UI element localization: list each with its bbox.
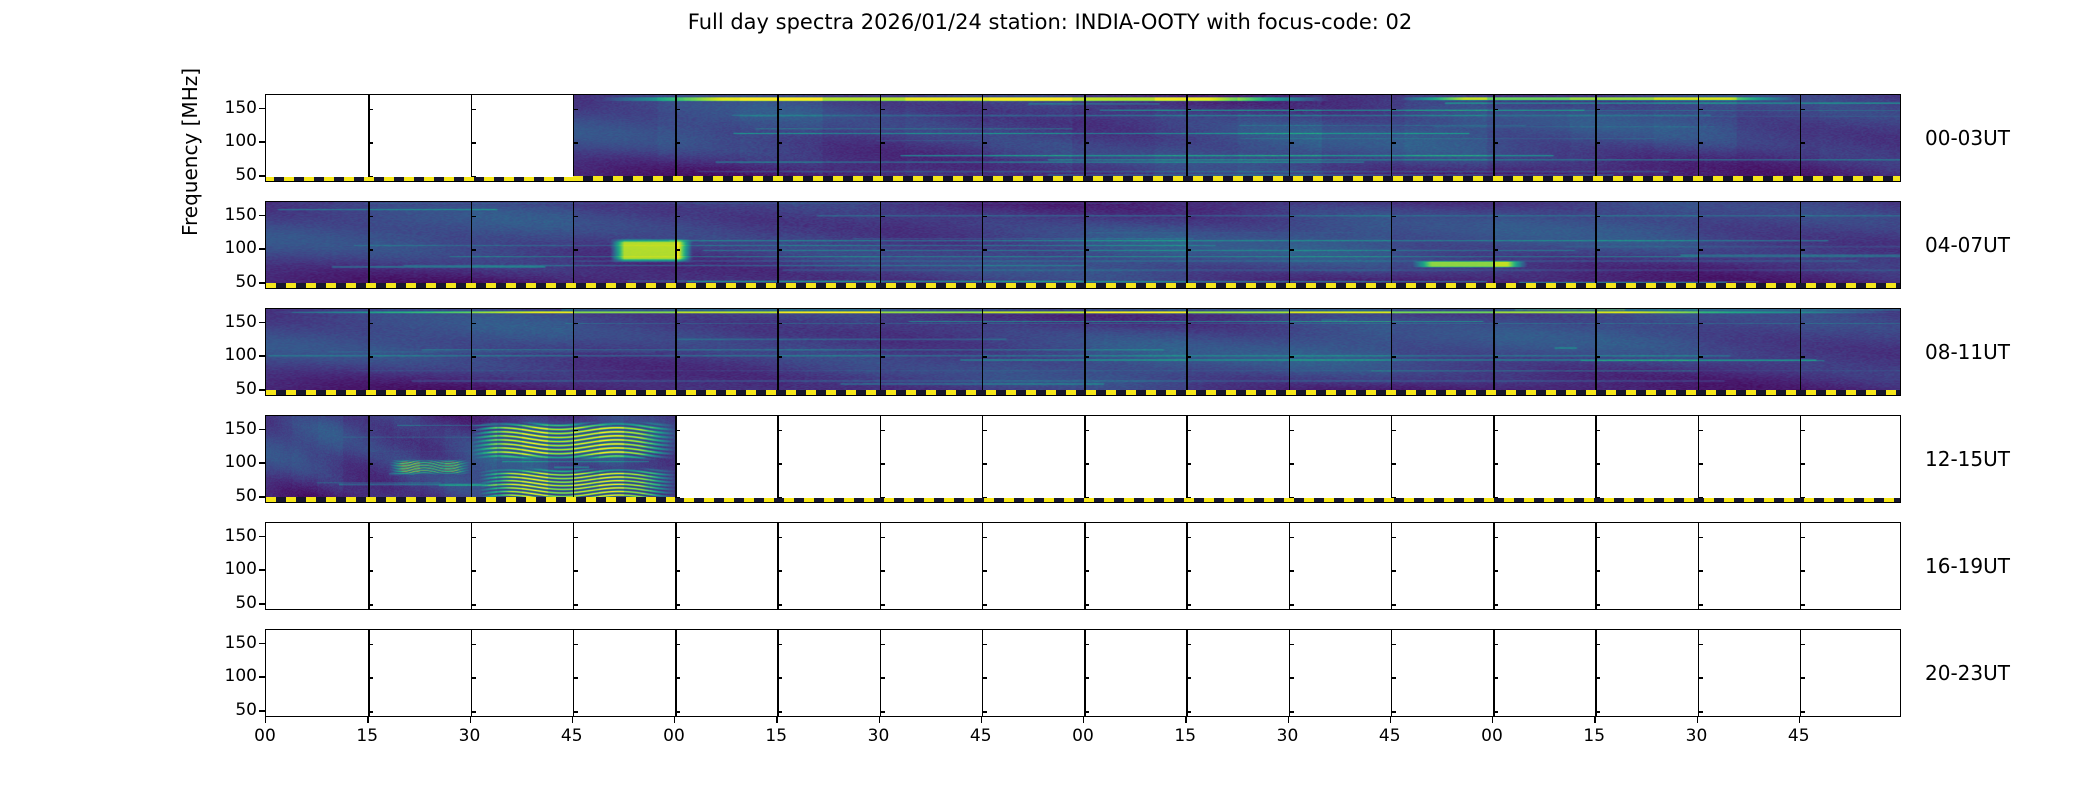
subpanel-y-tick — [1084, 249, 1089, 250]
x-tick-minor — [1800, 497, 1801, 502]
x-tick-minor — [1595, 711, 1596, 716]
subpanel-y-tick — [777, 430, 782, 431]
subpanel-y-tick — [1595, 216, 1600, 217]
subpanel-y-tick — [573, 677, 578, 678]
x-tick-minor — [1084, 604, 1085, 609]
subpanel-y-tick — [1595, 323, 1600, 324]
y-tick-label: 50 — [197, 593, 257, 613]
subpanel-y-tick — [368, 216, 373, 217]
subpanel-y-tick — [1595, 249, 1600, 250]
subpanel-y-tick — [1595, 537, 1600, 538]
subpanel-y-tick — [1493, 537, 1498, 538]
y-tick-label: 100 — [197, 345, 257, 365]
subpanel-y-tick — [1800, 570, 1805, 571]
subpanel-y-tick — [471, 109, 476, 110]
subpanel-y-tick — [880, 142, 885, 143]
subpanel-y-tick — [1289, 216, 1294, 217]
subpanel-y-tick — [982, 463, 987, 464]
subpanel-y-tick — [1800, 677, 1805, 678]
x-tick-label: 30 — [854, 726, 904, 746]
subpanel-y-tick — [880, 570, 885, 571]
subpanel-y-tick — [573, 356, 578, 357]
subpanel-y-tick — [1391, 323, 1396, 324]
x-tick-minor — [368, 604, 369, 609]
data-coverage-marker — [266, 390, 1901, 395]
y-tick-label: 150 — [197, 98, 257, 118]
subpanel-y-tick — [1698, 249, 1703, 250]
x-tick — [981, 717, 982, 723]
subpanel-y-tick — [1800, 497, 1805, 498]
y-tick-label: 50 — [197, 486, 257, 506]
subpanel-y-tick — [982, 570, 987, 571]
y-tick-label: 100 — [197, 559, 257, 579]
subpanel-y-tick — [471, 430, 476, 431]
x-tick-minor — [982, 497, 983, 502]
y-tick-label: 150 — [197, 312, 257, 332]
y-tick-150 — [259, 215, 265, 216]
subpanel-y-tick — [1084, 463, 1089, 464]
subpanel-y-tick — [1084, 216, 1089, 217]
subpanel-y-tick — [777, 109, 782, 110]
y-tick-label-group: 5010015050100150501001505010015050100150… — [195, 94, 257, 718]
x-tick — [265, 717, 266, 723]
y-tick-150 — [259, 536, 265, 537]
subpanel-y-tick — [471, 356, 476, 357]
subpanel-y-tick — [1698, 323, 1703, 324]
y-tick-150 — [259, 108, 265, 109]
x-tick-minor — [471, 604, 472, 609]
subpanel-y-tick — [1391, 644, 1396, 645]
subpanel-y-tick — [1800, 323, 1805, 324]
x-tick-minor — [675, 497, 676, 502]
y-tick-150 — [259, 429, 265, 430]
x-tick — [1697, 717, 1698, 723]
x-tick-minor — [1698, 711, 1699, 716]
y-tick-150 — [259, 322, 265, 323]
subpanel-y-tick — [1084, 644, 1089, 645]
subpanel-y-tick — [1186, 463, 1191, 464]
subpanel-y-tick — [982, 249, 987, 250]
subpanel-y-tick — [1595, 677, 1600, 678]
subpanel-y-tick — [368, 109, 373, 110]
subpanel-y-tick — [1595, 109, 1600, 110]
subpanel-y-tick — [1493, 463, 1498, 464]
subpanel-y-tick — [1595, 356, 1600, 357]
x-tick-minor — [880, 604, 881, 609]
x-tick-label: 15 — [1569, 726, 1619, 746]
subpanel-y-tick — [1698, 463, 1703, 464]
y-tick-100 — [259, 569, 265, 570]
subpanel-y-tick — [777, 463, 782, 464]
subpanel-y-tick — [1289, 644, 1294, 645]
subpanel-y-tick — [1595, 497, 1600, 498]
subpanel-y-tick — [675, 109, 680, 110]
subpanel-y-tick — [1800, 356, 1805, 357]
subpanel-y-tick — [1493, 323, 1498, 324]
x-tick-minor — [1493, 497, 1494, 502]
subpanel-y-tick — [1493, 249, 1498, 250]
x-tick-minor — [1084, 711, 1085, 716]
subpanel-y-tick — [1289, 497, 1294, 498]
subpanel-y-tick — [1391, 497, 1396, 498]
x-tick — [879, 717, 880, 723]
x-tick-label: 30 — [445, 726, 495, 746]
row-axes-frame — [265, 201, 1901, 289]
y-tick-label: 50 — [197, 272, 257, 292]
subpanel-y-tick — [777, 537, 782, 538]
subpanel-y-tick — [777, 142, 782, 143]
subpanel-y-tick — [1698, 109, 1703, 110]
subpanel-y-tick — [777, 249, 782, 250]
subpanel-y-tick — [1289, 323, 1294, 324]
y-tick-label: 100 — [197, 452, 257, 472]
subpanel-y-tick — [471, 537, 476, 538]
subpanel-y-tick — [1186, 430, 1191, 431]
y-tick-label: 50 — [197, 165, 257, 185]
subpanel-y-tick — [880, 109, 885, 110]
subpanel-y-tick — [880, 677, 885, 678]
subpanel-y-tick — [573, 644, 578, 645]
x-tick-minor — [1595, 604, 1596, 609]
x-tick — [1799, 717, 1800, 723]
subpanel-y-tick — [1698, 430, 1703, 431]
x-tick-minor — [777, 497, 778, 502]
y-tick-100 — [259, 248, 265, 249]
subpanel-y-tick — [1493, 644, 1498, 645]
subpanel-y-tick — [471, 644, 476, 645]
subpanel-y-tick — [368, 537, 373, 538]
subpanel-y-tick — [880, 537, 885, 538]
subpanel-y-tick — [1084, 356, 1089, 357]
y-tick-150 — [259, 643, 265, 644]
subpanel-y-tick — [471, 463, 476, 464]
subpanel-y-tick — [1186, 249, 1191, 250]
subpanel-y-tick — [573, 216, 578, 217]
x-tick-minor — [1186, 711, 1187, 716]
x-tick-minor — [1186, 497, 1187, 502]
subpanel-y-tick — [1186, 537, 1191, 538]
y-tick-label: 150 — [197, 633, 257, 653]
subpanel-y-tick — [1595, 570, 1600, 571]
y-tick-50 — [259, 496, 265, 497]
x-tick-minor — [573, 604, 574, 609]
subpanel-y-tick — [880, 644, 885, 645]
x-tick — [572, 717, 573, 723]
x-tick-minor — [471, 711, 472, 716]
x-tick-minor — [1595, 497, 1596, 502]
subpanel-y-tick — [1289, 537, 1294, 538]
x-tick — [1288, 717, 1289, 723]
subpanel-y-tick — [675, 463, 680, 464]
spectrogram-row[interactable] — [265, 94, 1901, 182]
subpanel-y-tick — [1800, 430, 1805, 431]
subpanel-y-tick — [880, 463, 885, 464]
y-tick-100 — [259, 141, 265, 142]
subpanel-y-tick — [880, 497, 885, 498]
subpanel-y-tick — [368, 249, 373, 250]
subpanel-y-tick — [982, 677, 987, 678]
subpanel-y-tick — [982, 109, 987, 110]
subpanel-y-tick — [1289, 142, 1294, 143]
subpanel-y-tick — [982, 356, 987, 357]
x-tick-minor — [368, 711, 369, 716]
y-tick-100 — [259, 355, 265, 356]
subpanel-y-tick — [1391, 216, 1396, 217]
subpanel-y-tick — [1186, 497, 1191, 498]
row-label-12-15ut: 12-15UT — [1925, 447, 2010, 471]
subpanel-y-tick — [1186, 570, 1191, 571]
subpanel-y-tick — [880, 323, 885, 324]
subpanel-y-tick — [573, 249, 578, 250]
subpanel-y-tick — [982, 216, 987, 217]
subpanel-y-tick — [1391, 570, 1396, 571]
row-axes-frame — [265, 94, 1901, 182]
subpanel-y-tick — [471, 249, 476, 250]
spectrogram-row[interactable] — [265, 201, 1901, 289]
subpanel-y-tick — [777, 644, 782, 645]
subpanel-y-tick — [1493, 677, 1498, 678]
subpanel-y-tick — [1493, 356, 1498, 357]
subpanel-y-tick — [1595, 142, 1600, 143]
y-tick-label: 100 — [197, 131, 257, 151]
subpanel-y-tick — [1084, 142, 1089, 143]
subpanel-y-tick — [1698, 677, 1703, 678]
subpanel-y-tick — [1800, 216, 1805, 217]
subpanel-y-tick — [982, 142, 987, 143]
subpanel-y-tick — [880, 216, 885, 217]
y-tick-label: 50 — [197, 700, 257, 720]
x-tick-label-group: 00153045001530450015304500153045 — [265, 726, 1901, 756]
x-tick-label: 45 — [1365, 726, 1415, 746]
x-tick-minor — [1084, 497, 1085, 502]
spectrogram-row[interactable] — [265, 308, 1901, 396]
y-tick-50 — [259, 175, 265, 176]
x-tick-minor — [880, 711, 881, 716]
subpanel-y-tick — [1289, 249, 1294, 250]
data-coverage-marker — [573, 176, 1901, 181]
subpanel-y-tick — [368, 430, 373, 431]
subpanel-y-tick — [1391, 537, 1396, 538]
subpanel-y-tick — [777, 356, 782, 357]
spectrogram-row[interactable] — [265, 522, 1901, 610]
subpanel-y-tick — [1391, 677, 1396, 678]
subpanel-y-tick — [368, 142, 373, 143]
subpanel-y-tick — [1186, 142, 1191, 143]
subpanel-y-tick — [1084, 430, 1089, 431]
subpanel-y-tick — [982, 430, 987, 431]
subpanel-y-tick — [368, 677, 373, 678]
subpanel-y-tick — [675, 677, 680, 678]
subpanel-y-tick — [675, 644, 680, 645]
y-tick-label: 150 — [197, 419, 257, 439]
subpanel-y-tick — [471, 216, 476, 217]
x-tick-label: 00 — [1467, 726, 1517, 746]
x-tick-label: 45 — [956, 726, 1006, 746]
x-tick-minor — [1698, 497, 1699, 502]
row-label-08-11ut: 08-11UT — [1925, 340, 2010, 364]
x-tick-minor — [1800, 711, 1801, 716]
row-label-04-07ut: 04-07UT — [1925, 233, 2010, 257]
subpanel-y-tick — [573, 109, 578, 110]
subpanel-y-tick — [573, 463, 578, 464]
subpanel-y-tick — [471, 323, 476, 324]
subpanel-y-tick — [982, 537, 987, 538]
y-tick-50 — [259, 603, 265, 604]
subpanel-y-tick — [1084, 570, 1089, 571]
y-tick-label: 50 — [197, 379, 257, 399]
spectrogram-grid — [265, 94, 1901, 718]
row-label-00-03ut: 00-03UT — [1925, 126, 2010, 150]
subpanel-y-tick — [1391, 249, 1396, 250]
subpanel-y-tick — [368, 463, 373, 464]
x-tick-minor — [1493, 711, 1494, 716]
figure-title: Full day spectra 2026/01/24 station: IND… — [0, 10, 2100, 34]
x-tick-minor — [1289, 711, 1290, 716]
spectrogram-row[interactable] — [265, 415, 1901, 503]
subpanel-y-tick — [1084, 497, 1089, 498]
x-tick-minor — [675, 711, 676, 716]
x-tick-minor — [1289, 604, 1290, 609]
x-tick-label: 15 — [342, 726, 392, 746]
y-tick-50 — [259, 282, 265, 283]
subpanel-y-tick — [368, 176, 373, 177]
x-tick-minor — [1391, 711, 1392, 716]
subpanel-y-tick — [1800, 463, 1805, 464]
subpanel-y-tick — [368, 323, 373, 324]
x-tick-minor — [471, 176, 472, 181]
x-tick-minor — [1289, 497, 1290, 502]
subpanel-y-tick — [1289, 356, 1294, 357]
subpanel-y-tick — [1391, 356, 1396, 357]
x-tick — [367, 717, 368, 723]
x-tick-minor — [1391, 497, 1392, 502]
x-tick — [470, 717, 471, 723]
subpanel-y-tick — [1800, 644, 1805, 645]
spectrogram-row[interactable] — [265, 629, 1901, 717]
subpanel-y-tick — [777, 570, 782, 571]
subpanel-y-tick — [675, 497, 680, 498]
subpanel-y-tick — [777, 216, 782, 217]
subpanel-y-tick — [1084, 537, 1089, 538]
row-label-16-19ut: 16-19UT — [1925, 554, 2010, 578]
subpanel-y-tick — [1084, 323, 1089, 324]
x-tick-label: 45 — [547, 726, 597, 746]
subpanel-y-tick — [1493, 216, 1498, 217]
subpanel-y-tick — [1186, 356, 1191, 357]
subpanel-y-tick — [675, 216, 680, 217]
row-axes-frame — [265, 629, 1901, 717]
subpanel-y-tick — [1289, 677, 1294, 678]
subpanel-y-tick — [1084, 677, 1089, 678]
subpanel-y-tick — [1186, 677, 1191, 678]
subpanel-y-tick — [471, 142, 476, 143]
subpanel-y-tick — [1493, 109, 1498, 110]
x-tick-label: 45 — [1774, 726, 1824, 746]
figure-canvas: Full day spectra 2026/01/24 station: IND… — [0, 0, 2100, 800]
subpanel-y-tick — [1698, 356, 1703, 357]
subpanel-y-tick — [1698, 570, 1703, 571]
subpanel-y-tick — [1084, 109, 1089, 110]
subpanel-y-tick — [1391, 463, 1396, 464]
subpanel-y-tick — [368, 570, 373, 571]
x-tick — [1390, 717, 1391, 723]
x-tick-minor — [777, 711, 778, 716]
x-tick — [776, 717, 777, 723]
x-tick-label: 15 — [751, 726, 801, 746]
subpanel-y-tick — [777, 497, 782, 498]
x-tick — [1492, 717, 1493, 723]
subpanel-y-tick — [471, 570, 476, 571]
subpanel-y-tick — [1391, 109, 1396, 110]
x-tick-minor — [982, 711, 983, 716]
subpanel-y-tick — [675, 430, 680, 431]
x-tick — [1594, 717, 1595, 723]
y-tick-100 — [259, 462, 265, 463]
x-tick-label: 00 — [649, 726, 699, 746]
x-tick-minor — [880, 497, 881, 502]
subpanel-y-tick — [1289, 109, 1294, 110]
subpanel-y-tick — [1186, 323, 1191, 324]
x-tick — [1185, 717, 1186, 723]
subpanel-y-tick — [1698, 537, 1703, 538]
subpanel-y-tick — [573, 430, 578, 431]
subpanel-y-tick — [471, 677, 476, 678]
subpanel-y-tick — [1186, 109, 1191, 110]
subpanel-y-tick — [1698, 497, 1703, 498]
row-axes-frame — [265, 522, 1901, 610]
row-axes-frame — [265, 308, 1901, 396]
subpanel-y-tick — [880, 249, 885, 250]
x-tick-label: 30 — [1672, 726, 1722, 746]
x-tick — [1083, 717, 1084, 723]
subpanel-y-tick — [982, 644, 987, 645]
y-tick-label: 100 — [197, 238, 257, 258]
subpanel-y-tick — [675, 323, 680, 324]
data-coverage-marker — [266, 283, 1901, 288]
subpanel-y-tick — [573, 570, 578, 571]
row-label-20-23ut: 20-23UT — [1925, 661, 2010, 685]
x-tick-minor — [368, 176, 369, 181]
x-tick-label: 30 — [1263, 726, 1313, 746]
subpanel-y-tick — [982, 497, 987, 498]
subpanel-y-tick — [573, 537, 578, 538]
subpanel-y-tick — [1391, 142, 1396, 143]
x-tick-minor — [573, 711, 574, 716]
x-tick-minor — [1186, 604, 1187, 609]
y-tick-label: 150 — [197, 205, 257, 225]
x-tick-minor — [1391, 604, 1392, 609]
subpanel-y-tick — [675, 249, 680, 250]
subpanel-y-tick — [675, 142, 680, 143]
x-tick-minor — [675, 604, 676, 609]
subpanel-y-tick — [1698, 216, 1703, 217]
x-tick-minor — [1493, 604, 1494, 609]
subpanel-y-tick — [880, 356, 885, 357]
subpanel-y-tick — [1493, 142, 1498, 143]
subpanel-y-tick — [1595, 430, 1600, 431]
subpanel-y-tick — [1698, 644, 1703, 645]
x-tick-minor — [1698, 604, 1699, 609]
subpanel-y-tick — [1289, 463, 1294, 464]
subpanel-y-tick — [1493, 570, 1498, 571]
x-tick-minor — [1800, 604, 1801, 609]
subpanel-y-tick — [675, 570, 680, 571]
subpanel-y-tick — [1800, 109, 1805, 110]
x-tick-label: 00 — [240, 726, 290, 746]
subpanel-y-tick — [1493, 430, 1498, 431]
x-tick-minor — [982, 604, 983, 609]
data-coverage-marker — [266, 497, 675, 502]
